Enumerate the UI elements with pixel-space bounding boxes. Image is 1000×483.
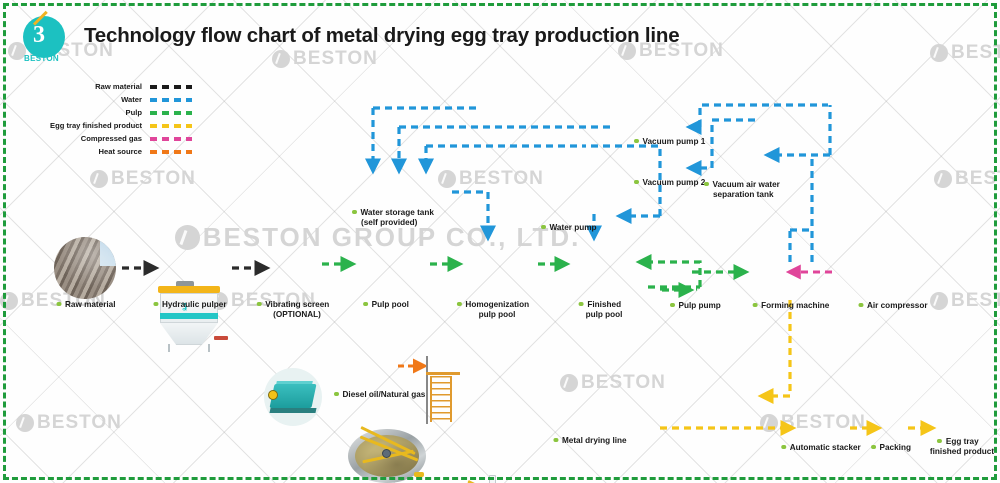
legend-label: Egg tray finished product (28, 121, 150, 130)
label-vacuum-pump-2: Vacuum pump 2 (634, 178, 705, 188)
bullet-icon (153, 302, 158, 307)
drying-line-platform (426, 372, 460, 375)
legend-label: Heat source (28, 147, 150, 156)
label-forming-machine: Forming machine (753, 301, 830, 311)
label-metal-drying-line: Metal drying line (553, 436, 626, 446)
bullet-icon (579, 302, 584, 307)
logo-wordmark: BESTON (24, 54, 59, 63)
pool-agitator-hub (382, 449, 391, 458)
legend-item-heat-source: Heat source (28, 145, 192, 158)
screen-base (269, 408, 316, 413)
legend-swatch-heat-source (150, 150, 192, 154)
legend-item-raw-material: Raw material (28, 80, 192, 93)
bullet-icon (56, 302, 61, 307)
label-automatic-stacker: Automatic stacker (781, 443, 861, 453)
raw-material-image (54, 237, 116, 299)
label-vibrating-screen: Vibrating screen (OPTIONAL) (257, 300, 330, 321)
bullet-icon (334, 392, 339, 397)
label-vacuum-separation-tank: Vacuum air water separation tank (704, 180, 780, 201)
beston-logo: 3 BESTON (20, 16, 68, 64)
bullet-icon (704, 182, 709, 187)
flow-chart-canvas: BESTON BESTON BESTON BESTON BESTON BESTO… (0, 0, 1000, 483)
legend-swatch-raw-material (150, 85, 192, 89)
bullet-icon (753, 303, 758, 308)
pulper-top-cover (158, 286, 220, 293)
label-homogenization-pulp-pool: Homogenization pulp pool (457, 300, 529, 321)
bullet-icon (257, 302, 262, 307)
label-hydraulic-pulper: Hydraulic pulper (153, 300, 226, 310)
legend-label: Water (28, 95, 150, 104)
pulper-outlet-pipe (214, 336, 228, 340)
line-to-pulppump-feed (640, 262, 700, 287)
hydraulic-pulper-equipment: ʓ (156, 280, 222, 352)
pool-outlet (414, 472, 424, 477)
screen-drive-wheel (268, 390, 278, 400)
legend-label: Compressed gas (28, 134, 150, 143)
bullet-icon (352, 210, 357, 215)
legend-swatch-water (150, 98, 192, 102)
pulper-legs (168, 344, 210, 352)
pulper-band (160, 313, 218, 319)
page-title: Technology flow chart of metal drying eg… (84, 24, 679, 48)
bullet-icon (553, 438, 558, 443)
pulper-hopper (160, 323, 218, 345)
line-former-to-dryline (762, 300, 790, 396)
label-air-compressor: Air compressor (858, 301, 927, 311)
bullet-icon (457, 302, 462, 307)
pulp-pool-equipment (348, 429, 426, 483)
logo-b-mark: 3 (33, 23, 45, 47)
bullet-icon (937, 439, 942, 444)
label-egg-tray-finished-product: Egg tray finished product (922, 437, 994, 458)
label-raw-material: Raw material (56, 300, 115, 310)
bullet-icon (634, 180, 639, 185)
line-vpump1-source (700, 105, 828, 127)
label-water-storage-tank: Water storage tank (self provided) (352, 208, 434, 229)
pool-water-inlet (489, 475, 496, 483)
legend-swatch-egg-tray (150, 124, 192, 128)
bullet-icon (634, 139, 639, 144)
raw-material-sky (100, 237, 116, 266)
drying-line-column (426, 356, 428, 424)
legend-item-water: Water (28, 93, 192, 106)
line-vpump2-source (700, 120, 760, 168)
legend-item-compressed-gas: Compressed gas (28, 132, 192, 145)
label-packing: Packing (871, 443, 911, 453)
legend-label: Pulp (28, 108, 150, 117)
drying-line-stairs (430, 376, 452, 422)
legend-item-egg-tray-finished-product: Egg tray finished product (28, 119, 192, 132)
bullet-icon (670, 303, 675, 308)
label-pulp-pool: Pulp pool (363, 300, 409, 310)
legend: Raw material Water Pulp Egg tray finishe… (28, 80, 192, 158)
vibrating-screen-image (264, 368, 322, 426)
legend-swatch-compressed-gas (150, 137, 192, 141)
label-pulp-pump: Pulp pump (670, 301, 721, 311)
bullet-icon (363, 302, 368, 307)
flow-connections (0, 0, 1000, 483)
legend-item-pulp: Pulp (28, 106, 192, 119)
bullet-icon (541, 225, 546, 230)
legend-swatch-pulp (150, 111, 192, 115)
bullet-icon (781, 445, 786, 450)
bullet-icon (871, 445, 876, 450)
label-finished-pulp-pool: Finished pulp pool (578, 300, 623, 321)
line-tank-to-homog-water (452, 192, 488, 237)
bullet-icon (858, 303, 863, 308)
legend-label: Raw material (28, 82, 150, 91)
label-water-pump: Water pump (541, 223, 597, 233)
label-diesel-natural-gas: Diesel oil/Natural gas (334, 390, 425, 400)
label-vacuum-pump-1: Vacuum pump 1 (634, 137, 705, 147)
